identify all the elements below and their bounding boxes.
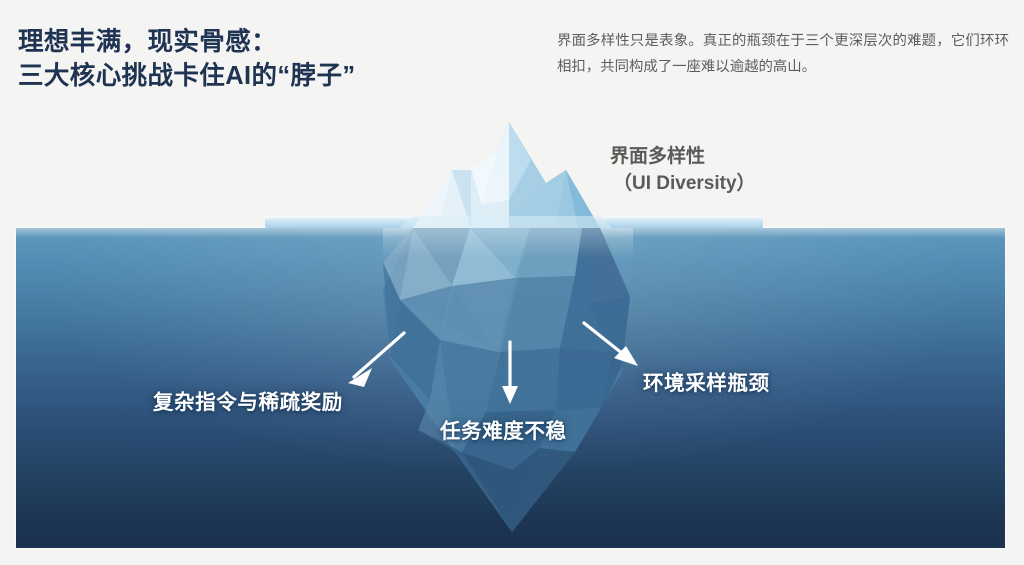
label-ui-diversity-cn: 界面多样性 (610, 146, 705, 167)
label-task-difficulty: 任务难度不稳 (440, 414, 567, 444)
iceberg-tip (400, 122, 612, 228)
waterline-highlight (265, 216, 763, 228)
water-surface-sheen (16, 228, 1005, 238)
title-line-1: 理想丰满，现实骨感： (18, 26, 518, 60)
label-ui-diversity-en: （UI Diversity） (610, 171, 756, 198)
intro-paragraph: 界面多样性只是表象。真正的瓶颈在于三个更深层次的难题，它们环环相扣，共同构成了一… (557, 28, 1009, 80)
page-title: 理想丰满，现实骨感： 三大核心挑战卡住AI的“脖子” (18, 26, 518, 93)
slide-canvas: 理想丰满，现实骨感： 三大核心挑战卡住AI的“脖子” 界面多样性只是表象。真正的… (0, 0, 1024, 565)
label-complex-instruction: 复杂指令与稀疏奖励 (153, 385, 343, 415)
label-env-sampling: 环境采样瓶颈 (643, 366, 770, 396)
label-ui-diversity: 界面多样性 （UI Diversity） (610, 144, 756, 198)
title-line-2: 三大核心挑战卡住AI的“脖子” (18, 60, 518, 94)
